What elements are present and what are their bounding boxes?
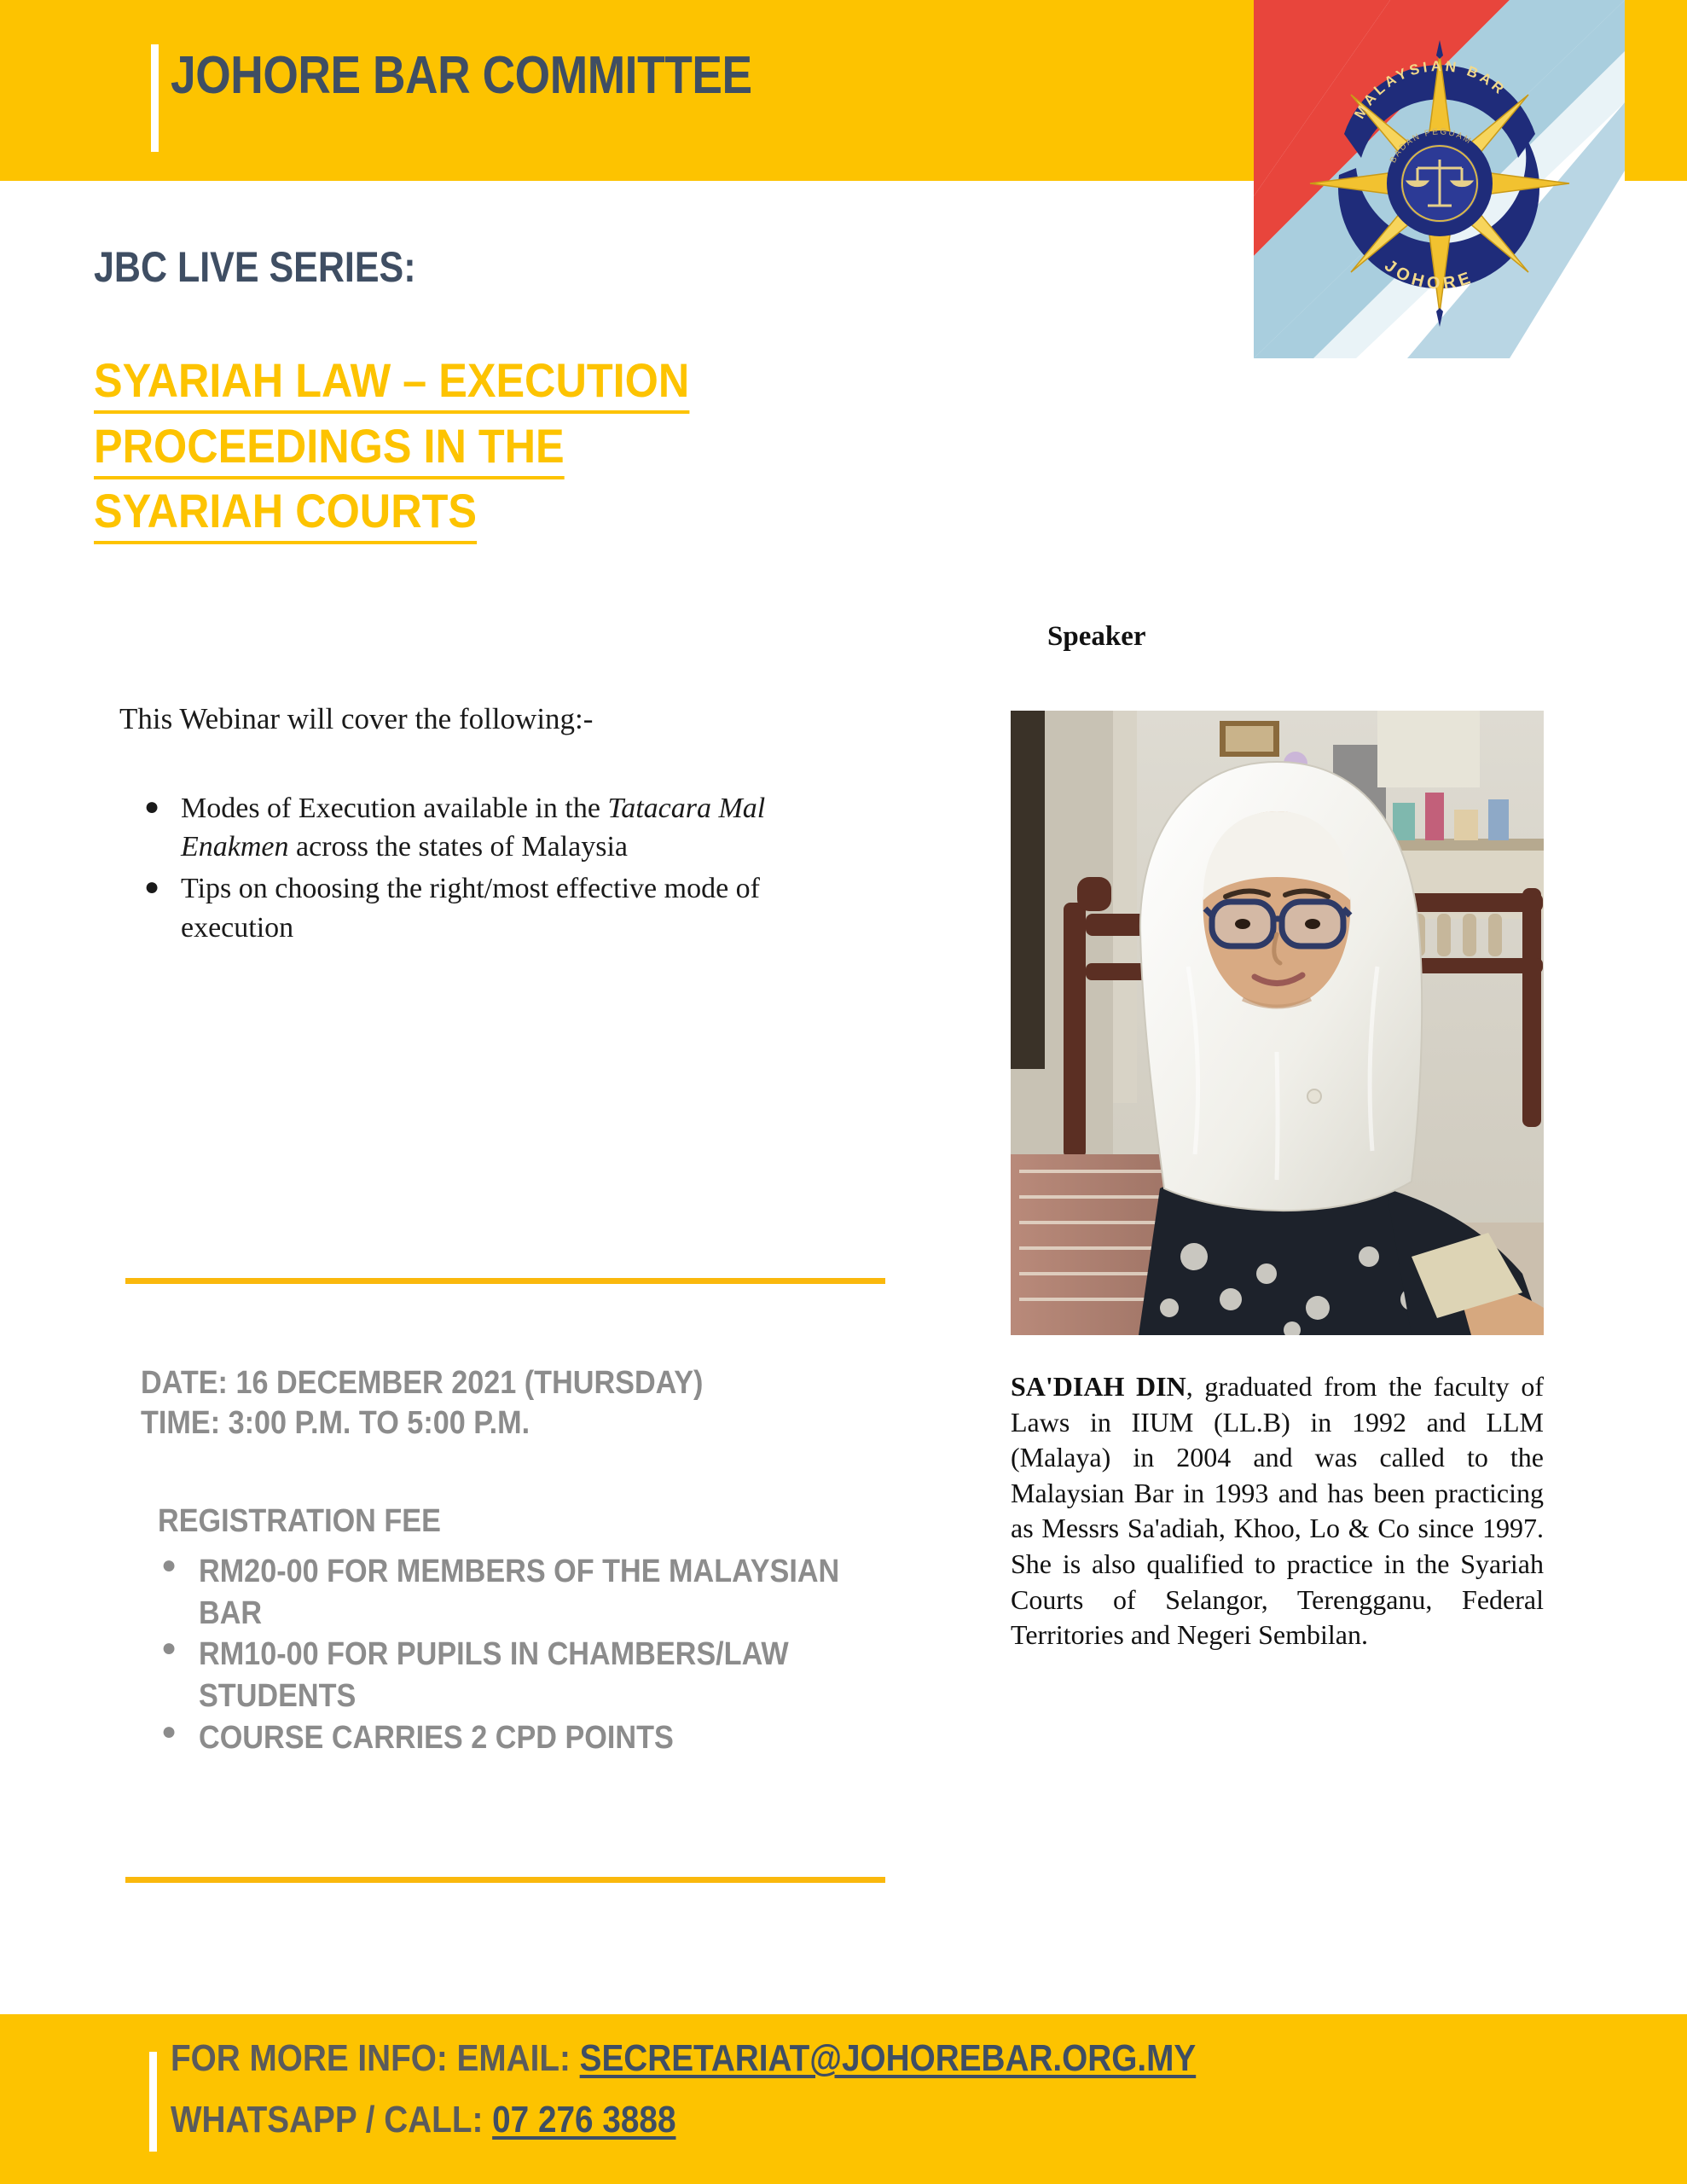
list-item: ●Modes of Execution available in the Tat… — [181, 789, 829, 866]
fee-item-1: RM20-00 FOR MEMBERS OF THE MALAYSIAN BAR — [199, 1551, 890, 1634]
webinar-title-line-3: SYARIAH COURTS — [94, 485, 846, 538]
fee-item-2: RM10-00 FOR PUPILS IN CHAMBERS/LAW STUDE… — [199, 1634, 890, 1716]
divider-bottom — [125, 1877, 885, 1883]
webinar-title: SYARIAH LAW – EXECUTION PROCEEDINGS IN T… — [94, 354, 930, 550]
coverage-item-2: Tips on choosing the right/most effectiv… — [181, 873, 760, 943]
series-label: JBC LIVE SERIES: — [94, 246, 416, 288]
speaker-bio: SA'DIAH DIN, graduated from the faculty … — [1011, 1369, 1544, 1653]
bullet-icon: ● — [161, 1549, 177, 1582]
footer-email-link[interactable]: SECRETARIAT@JOHOREBAR.ORG.MY — [580, 2037, 1197, 2079]
coverage-item-1-pre: Modes of Execution available in the — [181, 793, 607, 824]
speaker-label: Speaker — [1047, 621, 1146, 653]
malaysian-bar-johore-crest-icon: MALAYSIAN BAR JOHORE BADAN PEGUAM — [1254, 0, 1625, 358]
registration-fee-heading: REGISTRATION FEE — [158, 1503, 441, 1540]
bullet-icon: ● — [144, 790, 159, 824]
coverage-list: ●Modes of Execution available in the Tat… — [128, 789, 829, 950]
bullet-icon: ● — [161, 1632, 177, 1664]
bullet-icon: ● — [161, 1716, 177, 1748]
footer-email-prefix: FOR MORE INFO: EMAIL: — [171, 2037, 580, 2079]
header-accent-bar — [151, 44, 159, 152]
footer-phone-link[interactable]: 07 276 3888 — [492, 2099, 675, 2140]
page-title: JOHORE BAR COMMITTEE — [171, 49, 752, 102]
coverage-item-1-post: across the states of Malaysia — [289, 831, 629, 863]
coverage-intro: This Webinar will cover the following:- — [119, 702, 593, 736]
list-item: ●Tips on choosing the right/most effecti… — [181, 869, 829, 946]
footer-accent-bar — [149, 2052, 157, 2152]
speaker-bio-text: , graduated from the faculty of Laws in … — [1011, 1371, 1544, 1650]
footer-phone-line: WHATSAPP / CALL: 07 276 3888 — [171, 2099, 675, 2141]
fee-item-3: COURSE CARRIES 2 CPD POINTS — [199, 1717, 890, 1759]
speaker-photo — [1011, 711, 1544, 1335]
event-date: DATE: 16 DECEMBER 2021 (THURSDAY) — [141, 1363, 855, 1403]
footer-phone-prefix: WHATSAPP / CALL: — [171, 2099, 492, 2140]
footer-email-line: FOR MORE INFO: EMAIL: SECRETARIAT@JOHORE… — [171, 2037, 1196, 2080]
list-item: ● COURSE CARRIES 2 CPD POINTS — [199, 1717, 966, 1759]
event-details: DATE: 16 DECEMBER 2021 (THURSDAY) TIME: … — [141, 1363, 934, 1443]
bullet-icon: ● — [144, 870, 159, 904]
divider-top — [125, 1278, 885, 1284]
list-item: ● RM20-00 FOR MEMBERS OF THE MALAYSIAN B… — [199, 1551, 966, 1634]
webinar-title-line-1: SYARIAH LAW – EXECUTION — [94, 354, 846, 408]
registration-fee-list: ● RM20-00 FOR MEMBERS OF THE MALAYSIAN B… — [149, 1551, 966, 1758]
list-item: ● RM10-00 FOR PUPILS IN CHAMBERS/LAW STU… — [199, 1634, 966, 1716]
event-time: TIME: 3:00 P.M. TO 5:00 P.M. — [141, 1403, 855, 1443]
webinar-title-line-2: PROCEEDINGS IN THE — [94, 420, 846, 473]
speaker-name: SA'DIAH DIN — [1011, 1371, 1186, 1402]
